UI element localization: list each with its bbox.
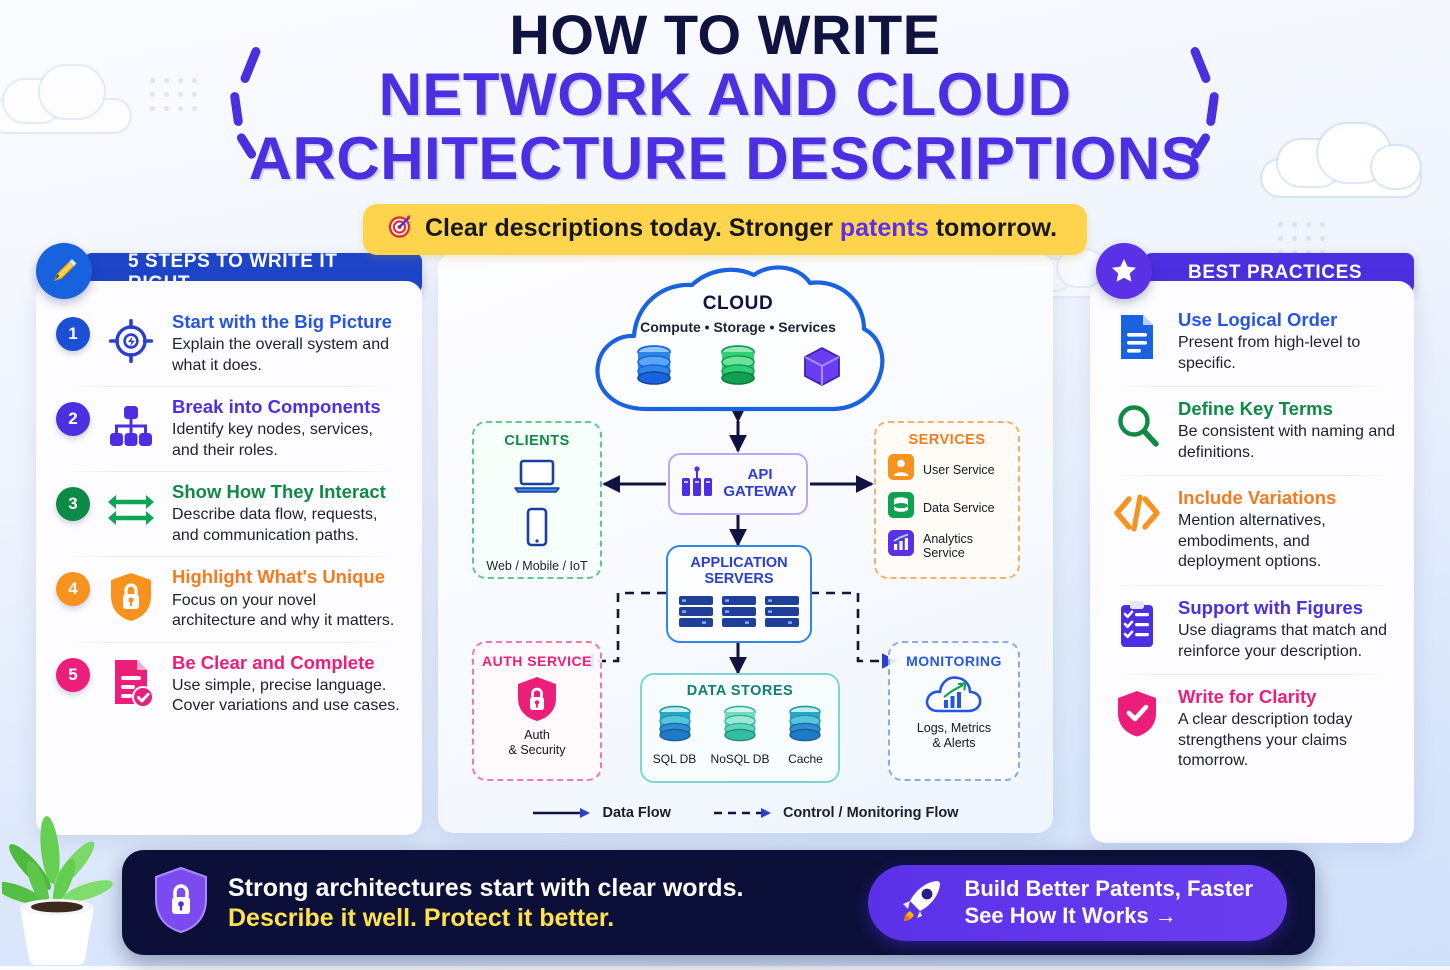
services-box[interactable]: SERVICES User Service (874, 421, 1020, 579)
service-label: Analytics Service (923, 532, 1008, 560)
clients-box[interactable]: CLIENTS Web / Mobile / IoT (472, 421, 602, 579)
step-desc: Describe data flow, requests, and commun… (172, 505, 402, 546)
service-item: Analytics Service (888, 530, 1008, 561)
best-practice-title: Use Logical Order (1178, 309, 1396, 331)
cta-button[interactable]: Build Better Patents, Faster See How It … (868, 865, 1287, 941)
left-panel-body: 1 Start with the Big Picture Explain the… (36, 281, 422, 835)
best-practice-desc: Present from high-level to specific. (1178, 333, 1396, 374)
architecture-diagram: CLOUD Compute • Storage • Services (438, 253, 1053, 833)
cta-line2: See How It Works → (964, 903, 1253, 930)
step-item-3[interactable]: 3 Show How They Interact Describe data f… (52, 471, 406, 556)
database-blue-icon (631, 343, 677, 394)
auth-caption-line1: Auth (474, 728, 600, 743)
step-title: Break into Components (172, 396, 402, 418)
right-panel-body: Use Logical Order Present from high-leve… (1090, 281, 1414, 843)
database-green-icon (715, 343, 761, 394)
smartphone-icon (524, 506, 550, 553)
subtitle-text: Clear descriptions today. Stronger paten… (425, 214, 1057, 243)
service-item: User Service (888, 454, 1008, 485)
data-store-label: SQL DB (653, 752, 697, 766)
document-lines-icon (1108, 309, 1166, 363)
services-title: SERVICES (876, 432, 1018, 448)
cloud-subtitle: Compute • Storage • Services (588, 319, 888, 335)
banner-line1: Strong architectures start with clear wo… (228, 873, 743, 903)
code-brackets-icon (1108, 487, 1166, 537)
solid-arrow-icon (532, 807, 592, 819)
best-practice-title: Include Variations (1178, 487, 1396, 509)
best-practice-item-2[interactable]: Define Key Terms Be consistent with nami… (1102, 386, 1402, 475)
step-number: 2 (56, 402, 90, 436)
step-desc: Identify key nodes, services, and their … (172, 420, 402, 461)
user-icon (888, 454, 914, 485)
service-label: User Service (923, 463, 995, 477)
data-store-item: NoSQL DB (711, 704, 770, 766)
best-practice-desc: A clear description today strengthens yo… (1178, 710, 1396, 771)
monitoring-caption-line1: Logs, Metrics (890, 721, 1018, 736)
page-title-line1: HOW TO WRITE (0, 6, 1450, 63)
clients-caption: Web / Mobile / IoT (474, 559, 600, 573)
legend-label: Data Flow (602, 805, 670, 821)
database-icon (888, 492, 914, 523)
step-desc: Focus on your novel architecture and why… (172, 591, 402, 632)
subtitle-pill: Clear descriptions today. Stronger paten… (363, 204, 1087, 255)
app-servers-line2: SERVERS (668, 572, 810, 588)
application-servers-box[interactable]: APPLICATION SERVERS (666, 545, 812, 643)
magnifier-icon (1108, 398, 1166, 452)
data-stores-title: DATA STORES (642, 683, 838, 699)
step-item-1[interactable]: 1 Start with the Big Picture Explain the… (52, 301, 406, 386)
step-number: 4 (56, 572, 90, 606)
best-practice-desc: Use diagrams that match and reinforce yo… (1178, 621, 1396, 662)
page-header: HOW TO WRITE NETWORK AND CLOUD ARCHITECT… (0, 6, 1450, 255)
api-gateway-box[interactable]: API GATEWAY (668, 453, 808, 515)
service-label: Data Service (923, 501, 995, 515)
cta-line1: Build Better Patents, Faster (964, 876, 1253, 903)
step-item-4[interactable]: 4 Highlight What's Unique Focus on your … (52, 556, 406, 641)
rocket-icon (894, 873, 948, 932)
best-practice-item-1[interactable]: Use Logical Order Present from high-leve… (1102, 297, 1402, 386)
plant-decoration (2, 795, 122, 965)
best-practice-title: Define Key Terms (1178, 398, 1396, 420)
subtitle-post: tomorrow. (929, 214, 1057, 242)
monitoring-box[interactable]: MONITORING Logs, Metrics & Alerts (888, 641, 1020, 781)
app-servers-line1: APPLICATION (668, 556, 810, 572)
document-check-icon (100, 652, 162, 710)
right-panel: BEST PRACTICES Use Logical Order Present… (1090, 253, 1414, 843)
api-gateway-line2: GATEWAY (723, 484, 796, 501)
best-practice-item-3[interactable]: Include Variations Mention alternatives,… (1102, 475, 1402, 585)
shield-check-icon (1108, 686, 1166, 740)
best-practice-item-5[interactable]: Write for Clarity A clear description to… (1102, 674, 1402, 784)
cube-purple-icon (799, 343, 845, 394)
target-crosshair-icon (100, 311, 162, 367)
best-practice-desc: Mention alternatives, embodiments, and d… (1178, 511, 1396, 572)
monitoring-caption-line2: & Alerts (890, 736, 1018, 751)
step-title: Be Clear and Complete (172, 652, 402, 674)
cloud-title: CLOUD (588, 293, 888, 315)
dashed-arrow-icon (713, 807, 773, 819)
best-practice-item-4[interactable]: Support with Figures Use diagrams that m… (1102, 585, 1402, 674)
chart-icon (888, 530, 914, 561)
server-rack-icon (679, 464, 715, 505)
shield-lock-icon (100, 566, 162, 624)
auth-caption-line2: & Security (474, 743, 600, 758)
diagram-legend: Data Flow Control / Monitoring Flow (438, 805, 1053, 821)
api-gateway-line1: API (723, 467, 796, 484)
server-grid-icon (668, 595, 810, 629)
step-title: Start with the Big Picture (172, 311, 402, 333)
banner-text: Strong architectures start with clear wo… (228, 873, 743, 933)
hierarchy-nodes-icon (100, 396, 162, 452)
best-practice-title: Support with Figures (1178, 597, 1396, 619)
cloud-group: CLOUD Compute • Storage • Services (588, 261, 888, 421)
step-number: 1 (56, 317, 90, 351)
legend-item-data-flow: Data Flow (532, 805, 670, 821)
two-way-arrows-icon (100, 481, 162, 537)
laptop-icon (512, 457, 562, 500)
data-store-item: SQL DB (653, 704, 697, 766)
monitoring-title: MONITORING (890, 653, 1018, 669)
data-store-label: NoSQL DB (711, 752, 770, 766)
bottom-banner: Strong architectures start with clear wo… (122, 850, 1315, 955)
best-practice-title: Write for Clarity (1178, 686, 1396, 708)
auth-service-box[interactable]: AUTH SERVICE Auth & Security (472, 641, 602, 781)
step-number: 3 (56, 487, 90, 521)
step-title: Show How They Interact (172, 481, 402, 503)
step-title: Highlight What's Unique (172, 566, 402, 588)
step-item-2[interactable]: 2 Break into Components Identify key nod… (52, 386, 406, 471)
data-stores-box[interactable]: DATA STORES SQL DB (640, 673, 840, 783)
step-desc: Use simple, precise language. Cover vari… (172, 676, 402, 717)
subtitle-highlight: patents (840, 214, 929, 242)
shield-lock-icon (474, 674, 600, 724)
clipboard-checklist-icon (1108, 597, 1166, 651)
data-store-label: Cache (783, 752, 827, 766)
step-desc: Explain the overall system and what it d… (172, 335, 402, 376)
best-practice-desc: Be consistent with naming and definition… (1178, 422, 1396, 463)
step-number: 5 (56, 658, 90, 692)
data-store-item: Cache (783, 704, 827, 766)
left-panel: 5 STEPS TO WRITE IT RIGHT 1 Start with t… (36, 253, 422, 835)
banner-line2: Describe it well. Protect it better. (228, 903, 743, 933)
service-item: Data Service (888, 492, 1008, 523)
legend-item-control-flow: Control / Monitoring Flow (713, 805, 959, 821)
shield-lock-icon (150, 864, 212, 941)
legend-label: Control / Monitoring Flow (783, 805, 959, 821)
step-item-5[interactable]: 5 Be Clear and Complete Use simple, prec… (52, 642, 406, 727)
clients-title: CLIENTS (474, 433, 600, 449)
auth-service-title: AUTH SERVICE (474, 653, 600, 669)
subtitle-pre: Clear descriptions today. Stronger (425, 214, 840, 242)
target-icon (387, 213, 413, 244)
page-title-line2: NETWORK AND CLOUD (0, 63, 1450, 127)
page-title-line3: ARCHITECTURE DESCRIPTIONS (0, 127, 1450, 191)
cloud-chart-icon (890, 673, 1018, 717)
